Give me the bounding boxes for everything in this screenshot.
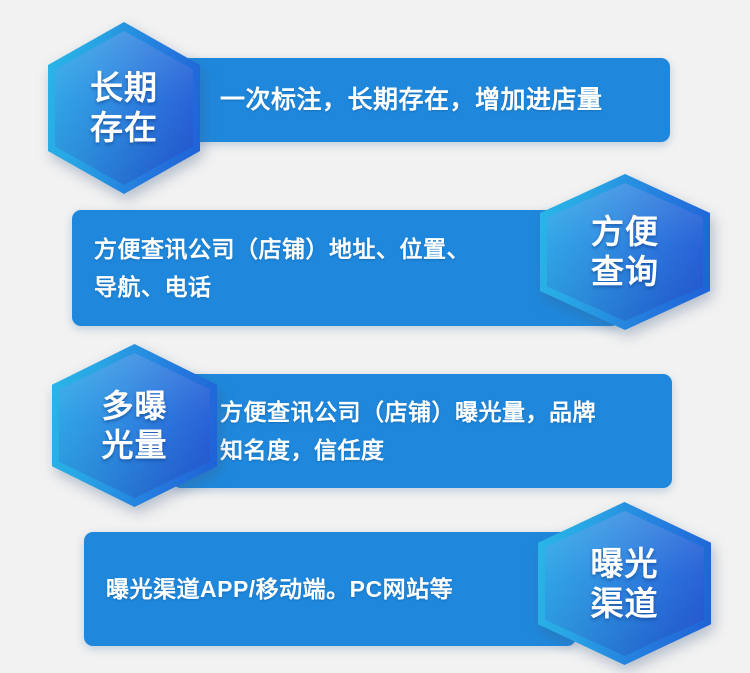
feature-text-4: 曝光渠道APP/移动端。PC网站等 — [84, 570, 453, 608]
feature-badge-label-4: 曝光 渠道 — [538, 502, 711, 665]
feature-badge-label-1: 长期 存在 — [48, 22, 200, 194]
feature-text-2: 方便查讯公司（店铺）地址、位置、 导航、电话 — [72, 230, 540, 306]
feature-row-1: 一次标注，长期存在，增加进店量 长期 存在 — [0, 22, 750, 192]
feature-badge-hexagon-2: 方便 查询 — [540, 174, 710, 330]
feature-bar-4: 曝光渠道APP/移动端。PC网站等 — [84, 532, 576, 646]
feature-badge-hexagon-3: 多曝 光量 — [52, 344, 217, 507]
feature-badge-hexagon-1: 长期 存在 — [48, 22, 200, 194]
infographic-stage: 一次标注，长期存在，增加进店量 长期 存在 方便查讯公司（店铺）地址、位置、 导… — [0, 0, 750, 673]
feature-badge-hexagon-4: 曝光 渠道 — [538, 502, 711, 665]
feature-row-3: 方便查讯公司（店铺）曝光量，品牌 知名度，信任度 多曝 光量 — [0, 342, 750, 510]
feature-row-4: 曝光渠道APP/移动端。PC网站等 曝光 渠道 — [0, 502, 750, 672]
feature-badge-label-3: 多曝 光量 — [52, 344, 217, 507]
feature-row-2: 方便查讯公司（店铺）地址、位置、 导航、电话 方便 查询 — [0, 176, 750, 342]
feature-bar-3: 方便查讯公司（店铺）曝光量，品牌 知名度，信任度 — [172, 374, 672, 488]
feature-text-3: 方便查讯公司（店铺）曝光量，品牌 知名度，信任度 — [172, 393, 596, 469]
feature-text-1: 一次标注，长期存在，增加进店量 — [168, 83, 603, 117]
feature-badge-label-2: 方便 查询 — [540, 174, 710, 330]
feature-bar-1: 一次标注，长期存在，增加进店量 — [168, 58, 670, 142]
feature-bar-2: 方便查讯公司（店铺）地址、位置、 导航、电话 — [72, 210, 620, 326]
